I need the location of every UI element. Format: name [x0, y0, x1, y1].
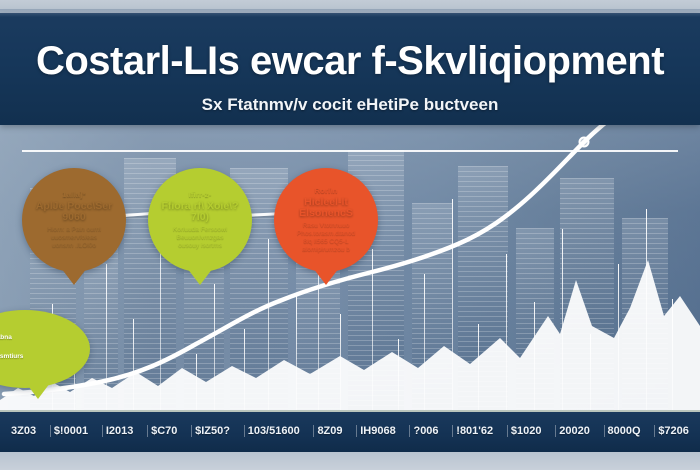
- bubble-1-body: Hiorn: a Pain ournl uuosmervfoleas uonsn…: [47, 226, 101, 250]
- axis-tick: $1020: [507, 425, 545, 437]
- callout-bubble-3[interactable]: Rorl\n Hicleel-lt ElsonencS Rasu Vtotnnu…: [274, 168, 378, 272]
- bubble-3-heading: Hicleel-lt ElsonencS: [282, 197, 370, 219]
- bubble-1-heading: AplJe Pocc\Ser 9060: [30, 201, 118, 223]
- axis-tick: I2013: [102, 425, 137, 437]
- axis-tick: 20020: [555, 425, 593, 437]
- axis-tick: IH9068: [356, 425, 398, 437]
- axis-tick: $7206: [654, 425, 692, 437]
- axis-tick: 103/51600: [244, 425, 303, 437]
- x-axis-tick-row: 3Z03 $!0001 I2013 $C70 $IZ50? 103/51600 …: [0, 425, 700, 437]
- trend-endpoint-marker: [580, 138, 589, 147]
- page-title: Costarl-LIs ewcar f-Skvliqiopment: [0, 39, 700, 84]
- bubble-2-heading: Ffiora rf\ Xoie\? 7I0): [156, 201, 244, 223]
- header-banner: Costarl-LIs ewcar f-Skvliqiopment Sx Fta…: [0, 13, 700, 125]
- callout-bubble-2[interactable]: Ifirr-z- Ffiora rf\ Xoie\? 7I0) Korluuda…: [148, 168, 252, 272]
- axis-tick: $C70: [147, 425, 180, 437]
- axis-tick: 8Z09: [313, 425, 345, 437]
- x-axis-footer-band: 3Z03 $!0001 I2013 $C70 $IZ50? 103/51600 …: [0, 410, 700, 452]
- bubble-2-body: Korluuda Fersoowl BeuuonIvrnzgas ousouy …: [173, 226, 227, 250]
- axis-tick: $IZ50?: [191, 425, 233, 437]
- page-subtitle: Sx Ftatnmv/v cocit eHetiPe buctveen: [0, 95, 700, 115]
- infographic-root: Costarl-LIs ewcar f-Skvliqiopment Sx Fta…: [0, 0, 700, 470]
- axis-tick: $!0001: [50, 425, 91, 437]
- line-chart: [0, 120, 700, 420]
- header-divider-rule: [22, 150, 678, 152]
- axis-tick: !801'62: [452, 425, 496, 437]
- axis-tick: 3Z03: [8, 425, 39, 437]
- axis-tick: 8000Q: [604, 425, 644, 437]
- area-peaks: [0, 260, 700, 420]
- callout-bubble-1[interactable]: 1alla]* AplJe Pocc\Ser 9060 Hiorn: a Pai…: [22, 168, 126, 272]
- bubble-2-kicker: Ifirr-z-: [189, 190, 212, 199]
- bubble-3-kicker: Rorl\n: [315, 186, 338, 195]
- bubble-3-body: Rasu Vtotnnuuo Phos.torasm.dtanod 8lq li…: [297, 222, 355, 255]
- axis-tick: ?006: [409, 425, 441, 437]
- bottom-edge-strip: [0, 452, 700, 470]
- bubble-1-kicker: 1alla]*: [62, 190, 86, 199]
- callout-green-body: nircle nna HS-nfabna niJaus iouit.no Hbs…: [0, 324, 60, 362]
